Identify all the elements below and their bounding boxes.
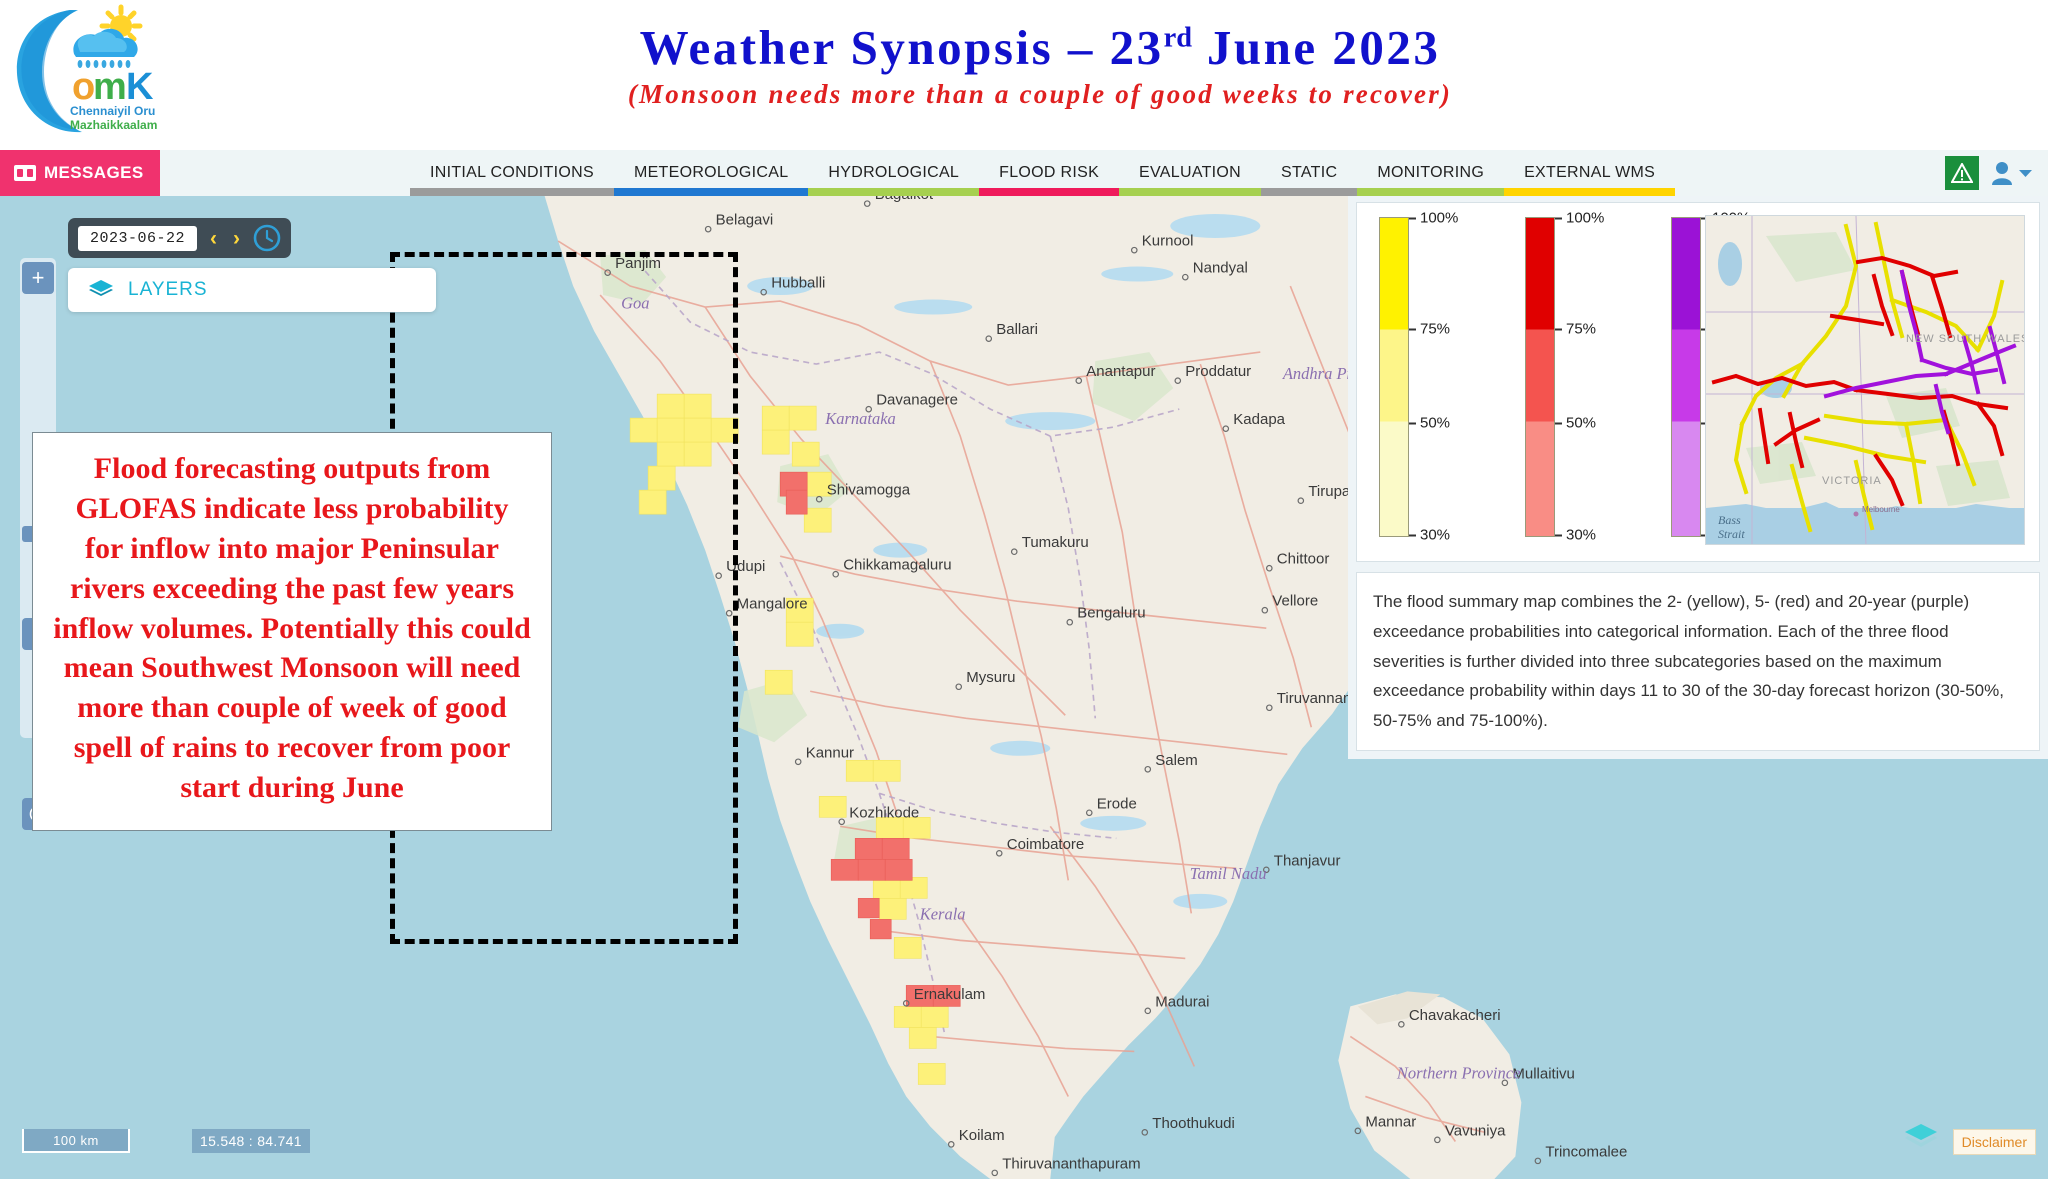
tab-underline	[614, 188, 808, 196]
tab-label: METEOROLOGICAL	[634, 164, 788, 182]
colorbar-red: 100% 75% 50% 30%	[1525, 217, 1609, 537]
tab-evaluation[interactable]: EVALUATION	[1119, 150, 1261, 196]
date-input[interactable]: 2023-06-22	[78, 226, 197, 251]
layers-stack-icon	[88, 278, 114, 302]
svg-text:Chennaiyil Oru: Chennaiyil Oru	[70, 104, 155, 118]
toolbar-right	[1945, 156, 2032, 190]
zoom-in-button[interactable]: +	[22, 262, 54, 294]
tab-flood-risk[interactable]: FLOOD RISK	[979, 150, 1119, 196]
tick-mark	[1409, 217, 1416, 219]
tab-label: INITIAL CONDITIONS	[430, 164, 594, 182]
clock-icon[interactable]	[253, 224, 281, 252]
svg-text:o: o	[72, 66, 94, 108]
tick-label: 30%	[1566, 527, 1596, 544]
annotation-callout: Flood forecasting outputs from GLOFAS in…	[32, 432, 552, 831]
crescent-cloud-sun-logo: o m K Chennaiyil Oru Mazhaikkaalam	[8, 2, 188, 144]
colorbar-gradient	[1525, 217, 1555, 537]
annotation-text: Flood forecasting outputs from GLOFAS in…	[53, 449, 531, 808]
tick-label: 50%	[1420, 415, 1450, 432]
tab-label: EVALUATION	[1139, 164, 1241, 182]
messages-button[interactable]: MESSAGES	[0, 150, 160, 196]
page-subtitle: (Monsoon needs more than a couple of goo…	[300, 79, 1780, 110]
tick-mark	[1555, 534, 1562, 536]
inset-label-strait: Strait	[1718, 527, 1745, 541]
basemap-switcher-button[interactable]	[1904, 1122, 1938, 1157]
glofas-application: MESSAGES INITIAL CONDITIONS METEOROLOGIC…	[0, 150, 2048, 1179]
page-title-prefix: Weather Synopsis – 23	[640, 20, 1164, 75]
tab-monitoring[interactable]: MONITORING	[1357, 150, 1504, 196]
comk-logo: o m K Chennaiyil Oru Mazhaikkaalam	[8, 2, 188, 144]
svg-text:m: m	[93, 66, 126, 108]
date-navigator: 2023-06-22 ‹ ›	[68, 218, 291, 258]
colorbar-yellow: 100% 75% 50% 30%	[1379, 217, 1463, 537]
messages-label: MESSAGES	[44, 163, 144, 183]
tick-label: 100%	[1566, 210, 1604, 227]
svg-text:K: K	[126, 66, 154, 108]
tab-label: STATIC	[1281, 164, 1337, 182]
tab-underline	[410, 188, 614, 196]
tick-mark	[1409, 534, 1416, 536]
tab-external-wms[interactable]: EXTERNAL WMS	[1504, 150, 1675, 196]
page-title-ordinal: rd	[1164, 23, 1192, 54]
tick-label: 30%	[1420, 527, 1450, 544]
tab-label: HYDROLOGICAL	[828, 164, 959, 182]
disclaimer-button[interactable]: Disclaimer	[1953, 1129, 2036, 1155]
user-icon	[1991, 160, 2015, 186]
map-coordinates: 15.548 : 84.741	[192, 1129, 310, 1153]
map-canvas[interactable]: BelagaviBagalkotKurnoolPanjimHubballiNan…	[0, 196, 2048, 1179]
legend-example-map: NEW SOUTH WALES VICTORIA Bass Strait Mel…	[1705, 215, 2025, 545]
tab-label: FLOOD RISK	[999, 164, 1099, 182]
tab-meteorological[interactable]: METEOROLOGICAL	[614, 150, 808, 196]
tab-underline	[1261, 188, 1357, 196]
tab-hydrological[interactable]: HYDROLOGICAL	[808, 150, 979, 196]
tab-static[interactable]: STATIC	[1261, 150, 1357, 196]
tab-underline	[1504, 188, 1675, 196]
app-toolbar: MESSAGES INITIAL CONDITIONS METEOROLOGIC…	[0, 150, 2048, 196]
screenshot-root: o m K Chennaiyil Oru Mazhaikkaalam Weath…	[0, 0, 2048, 1179]
colorbar-ticks: 100% 75% 50% 30%	[1555, 217, 1615, 537]
tick-mark	[1555, 328, 1562, 330]
tick-label: 75%	[1566, 321, 1596, 338]
tab-initial-conditions[interactable]: INITIAL CONDITIONS	[410, 150, 614, 196]
flood-summary-legend-panel: 100% 75% 50% 30%	[1348, 196, 2048, 759]
tick-label: 100%	[1420, 210, 1458, 227]
tick-mark	[1555, 217, 1562, 219]
legend-colorbars: 100% 75% 50% 30%	[1379, 217, 1755, 537]
date-next-button[interactable]: ›	[230, 228, 243, 249]
map-scale-bar: 100 km	[22, 1129, 130, 1153]
tab-underline	[979, 188, 1119, 196]
nav-tabs: INITIAL CONDITIONS METEOROLOGICAL HYDROL…	[410, 150, 1675, 196]
warning-triangle-icon[interactable]	[1945, 156, 1979, 190]
layers-stack-icon	[1904, 1122, 1938, 1152]
inset-map-render: NEW SOUTH WALES VICTORIA Bass Strait Mel…	[1706, 216, 2025, 545]
warning-triangle-glyph	[1951, 163, 1973, 183]
colorbar-gradient	[1379, 217, 1409, 537]
page-title-suffix: June 2023	[1192, 20, 1440, 75]
inset-label-bass: Bass	[1718, 513, 1741, 527]
tab-label: MONITORING	[1377, 164, 1484, 182]
tick-label: 50%	[1566, 415, 1596, 432]
messages-icon	[14, 165, 36, 181]
inset-label-melbourne: Melbourne	[1862, 505, 1900, 514]
user-account-menu[interactable]	[1991, 160, 2032, 186]
colorbar-ticks: 100% 75% 50% 30%	[1409, 217, 1469, 537]
tab-underline	[1357, 188, 1504, 196]
inset-label-nsw: NEW SOUTH WALES	[1906, 333, 2025, 345]
legend-description: The flood summary map combines the 2- (y…	[1356, 572, 2040, 751]
tick-label: 75%	[1420, 321, 1450, 338]
date-prev-button[interactable]: ‹	[207, 228, 220, 249]
chevron-down-icon	[2019, 169, 2032, 178]
tab-underline	[808, 188, 979, 196]
tick-mark	[1555, 422, 1562, 424]
tab-underline	[1119, 188, 1261, 196]
layers-label: LAYERS	[128, 279, 208, 301]
tab-label: EXTERNAL WMS	[1524, 164, 1655, 182]
tick-mark	[1409, 422, 1416, 424]
clock-glyph	[253, 224, 281, 252]
page-header: o m K Chennaiyil Oru Mazhaikkaalam Weath…	[0, 0, 2048, 150]
legend-card: 100% 75% 50% 30%	[1356, 202, 2040, 562]
tick-mark	[1409, 328, 1416, 330]
inset-label-victoria: VICTORIA	[1822, 475, 1882, 487]
title-block: Weather Synopsis – 23rd June 2023 (Monso…	[300, 22, 1780, 110]
layers-panel-toggle[interactable]: LAYERS	[68, 268, 436, 312]
svg-text:Mazhaikkaalam: Mazhaikkaalam	[70, 118, 157, 132]
colorbar-gradient	[1671, 217, 1701, 537]
page-title: Weather Synopsis – 23rd June 2023	[300, 22, 1780, 73]
